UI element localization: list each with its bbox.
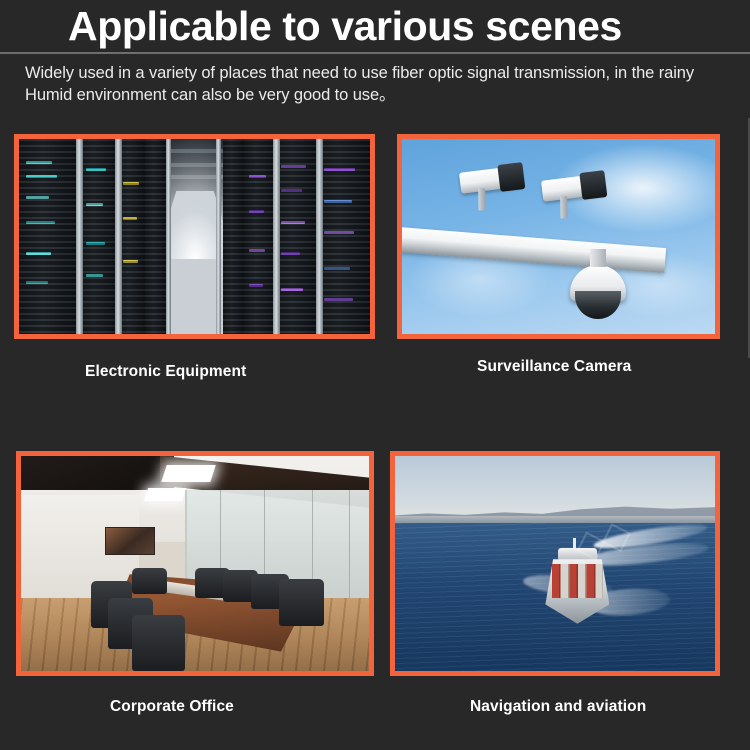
corporate-office-illustration xyxy=(21,456,369,671)
camera-lens xyxy=(579,170,607,200)
product-banner: Applicable to various scenes Widely used… xyxy=(0,0,750,750)
page-title: Applicable to various scenes xyxy=(0,2,690,50)
box-camera xyxy=(541,173,605,201)
scene-image-navigation-and-aviation[interactable]: ◇◇ xyxy=(390,451,720,676)
camera-mount xyxy=(478,188,485,210)
shipping-containers xyxy=(552,564,603,598)
data-center-illustration xyxy=(19,139,370,334)
server-rack xyxy=(223,139,245,334)
rack-frame-post xyxy=(76,139,83,334)
dome-camera-bubble xyxy=(575,291,621,319)
rack-frame-post xyxy=(216,139,221,334)
rack-frame-post xyxy=(273,139,280,334)
rack-frame-post xyxy=(115,139,122,334)
box-camera xyxy=(459,165,523,193)
rack-frame-post xyxy=(316,139,323,334)
scene-image-surveillance-camera[interactable] xyxy=(397,134,720,339)
dark-ceiling-panel xyxy=(21,456,174,490)
description-text: Widely used in a variety of places that … xyxy=(25,62,750,106)
server-rack xyxy=(145,139,167,334)
scene-caption-navigation-and-aviation: Navigation and aviation xyxy=(470,698,646,716)
surveillance-camera-illustration xyxy=(402,139,715,334)
container-ship-illustration: ◇◇ xyxy=(395,456,715,671)
office-chair xyxy=(132,615,184,671)
header-divider xyxy=(0,52,750,54)
camera-lens xyxy=(497,162,525,192)
scene-caption-surveillance-camera: Surveillance Camera xyxy=(477,358,631,376)
server-rack xyxy=(19,139,80,334)
scene-image-corporate-office[interactable] xyxy=(16,451,374,676)
description-line-1: Widely used in a variety of places that … xyxy=(25,64,694,82)
ceiling-light xyxy=(161,465,215,482)
scene-image-electronic-equipment[interactable] xyxy=(14,134,375,339)
server-rack xyxy=(275,139,318,334)
office-chair xyxy=(132,568,167,594)
server-rack xyxy=(317,139,370,334)
rack-frame-post xyxy=(166,139,171,334)
description-line-2: Humid environment can also be very good … xyxy=(25,84,750,106)
office-chair xyxy=(279,579,324,626)
dome-camera-neck xyxy=(590,249,606,267)
scene-caption-electronic-equipment: Electronic Equipment xyxy=(85,363,246,381)
wall-artwork xyxy=(105,527,156,555)
ceiling-light xyxy=(144,488,186,501)
server-rack xyxy=(244,139,277,334)
camera-mount xyxy=(560,196,567,218)
server-rack xyxy=(79,139,119,334)
scene-caption-corporate-office: Corporate Office xyxy=(110,698,234,716)
